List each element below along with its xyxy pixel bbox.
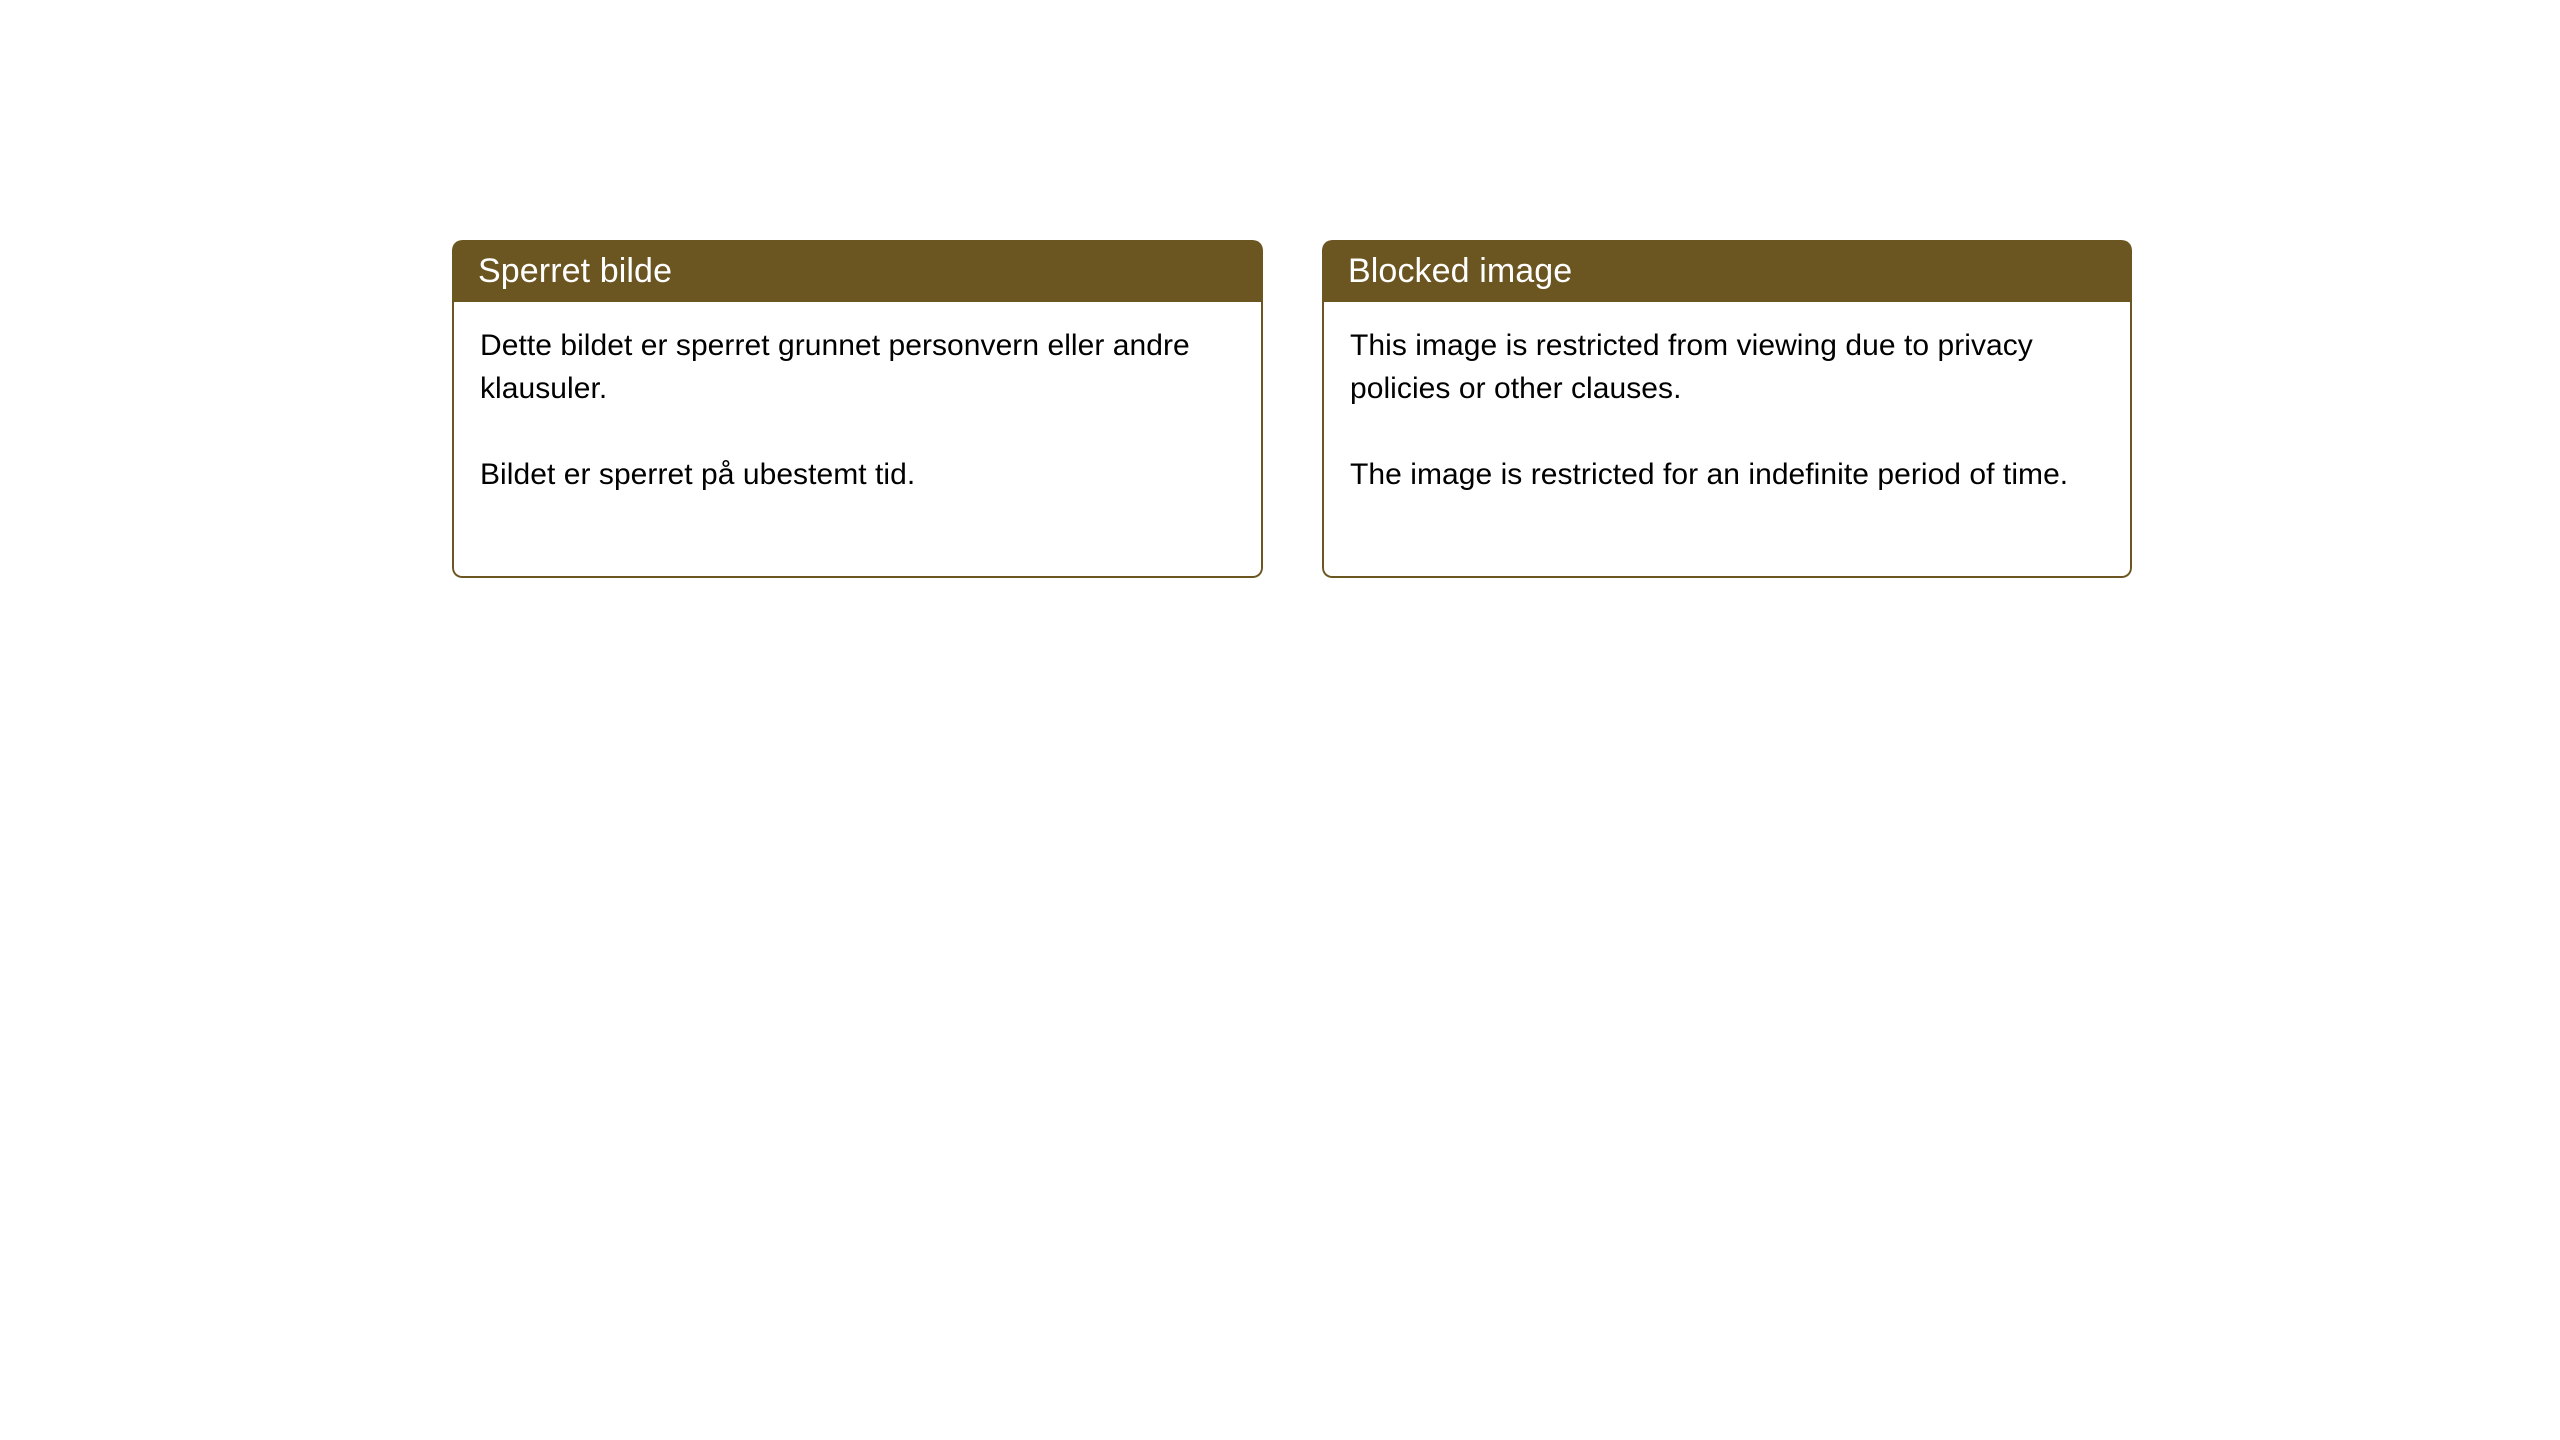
card-body-english: This image is restricted from viewing du…	[1322, 302, 2132, 578]
card-paragraph: Dette bildet er sperret grunnet personve…	[480, 324, 1235, 410]
blocked-image-notice-norwegian: Sperret bilde Dette bildet er sperret gr…	[452, 240, 1263, 578]
page-root: Sperret bilde Dette bildet er sperret gr…	[0, 0, 2560, 1440]
card-title-english: Blocked image	[1348, 254, 1572, 288]
card-title-norwegian: Sperret bilde	[478, 254, 672, 288]
blocked-image-notice-english: Blocked image This image is restricted f…	[1322, 240, 2132, 578]
card-header-norwegian: Sperret bilde	[452, 240, 1263, 302]
card-paragraph: Bildet er sperret på ubestemt tid.	[480, 453, 1235, 496]
card-body-norwegian: Dette bildet er sperret grunnet personve…	[452, 302, 1263, 578]
card-paragraph: The image is restricted for an indefinit…	[1350, 453, 2104, 496]
card-paragraph: This image is restricted from viewing du…	[1350, 324, 2104, 410]
card-header-english: Blocked image	[1322, 240, 2132, 302]
